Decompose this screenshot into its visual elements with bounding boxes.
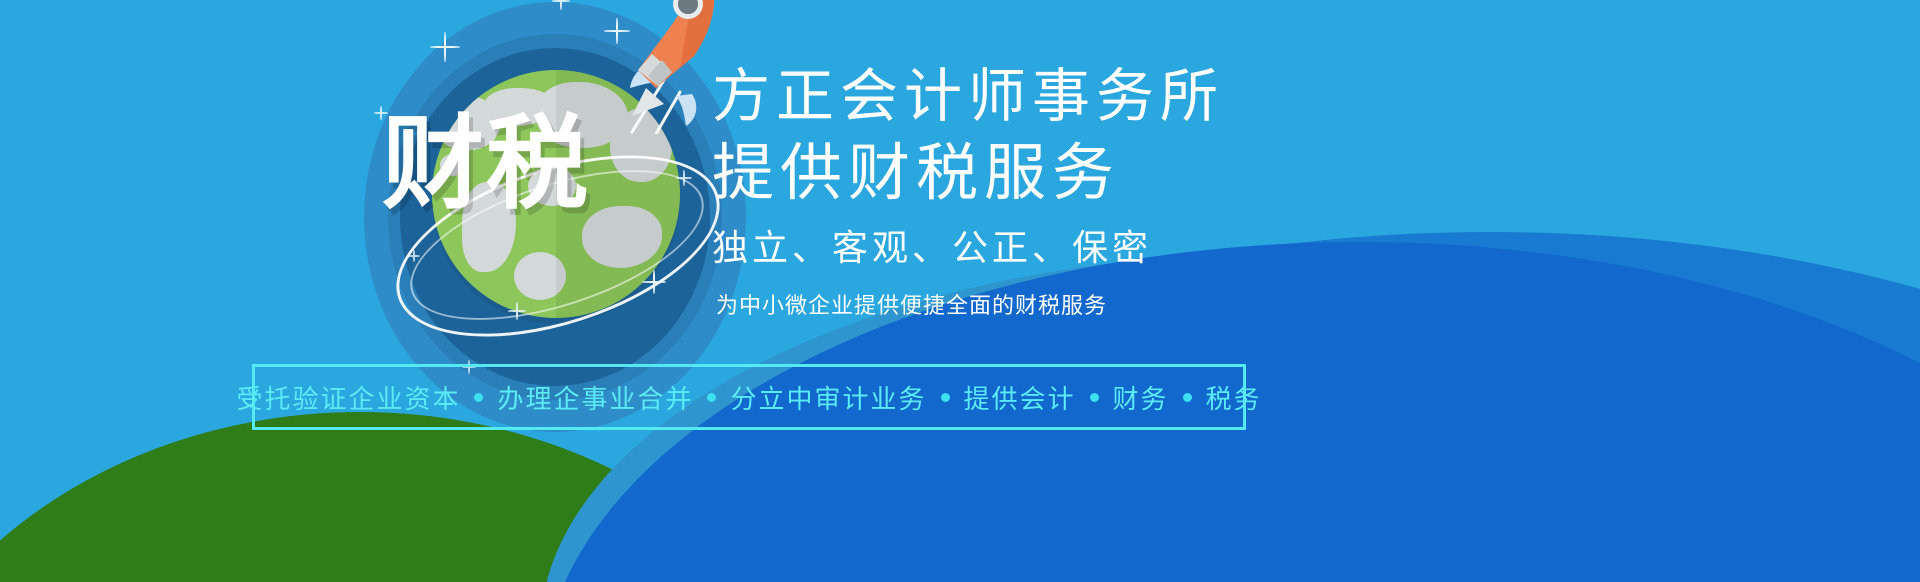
service-item[interactable]: 办理企事业合并 — [493, 379, 697, 416]
sparkle-icon — [642, 270, 666, 294]
promo-banner: 财税 — [0, 0, 1920, 582]
service-separator-dot — [941, 393, 950, 402]
service-item[interactable]: 税务 — [1202, 379, 1266, 416]
service-item[interactable]: 受托验证企业资本 — [232, 379, 464, 416]
service-item[interactable]: 财务 — [1109, 379, 1173, 416]
sparkle-icon — [552, 0, 570, 10]
copy-block: 方正会计师事务所 提供财税服务 独立、客观、公正、保密 为中小微企业提供便捷全面… — [712, 62, 1612, 326]
headline-secondary: 提供财税服务 — [712, 132, 1612, 216]
service-list-bar: 受托验证企业资本办理企事业合并分立中审计业务提供会计财务税务 — [252, 364, 1246, 430]
service-separator-dot — [1090, 393, 1099, 402]
headline-primary: 方正会计师事务所 — [712, 62, 1612, 132]
service-item[interactable]: 分立中审计业务 — [726, 379, 930, 416]
service-separator-dot — [474, 393, 483, 402]
service-separator-dot — [707, 393, 716, 402]
sparkle-icon — [508, 302, 526, 320]
sparkle-icon — [430, 32, 460, 62]
value-proposition: 独立、客观、公正、保密 — [712, 220, 1612, 276]
tagline: 为中小微企业提供便捷全面的财税服务 — [712, 286, 1612, 326]
service-separator-dot — [1183, 393, 1192, 402]
service-items: 受托验证企业资本办理企事业合并分立中审计业务提供会计财务税务 — [232, 379, 1265, 416]
service-item[interactable]: 提供会计 — [960, 379, 1080, 416]
sparkle-icon — [408, 250, 420, 262]
